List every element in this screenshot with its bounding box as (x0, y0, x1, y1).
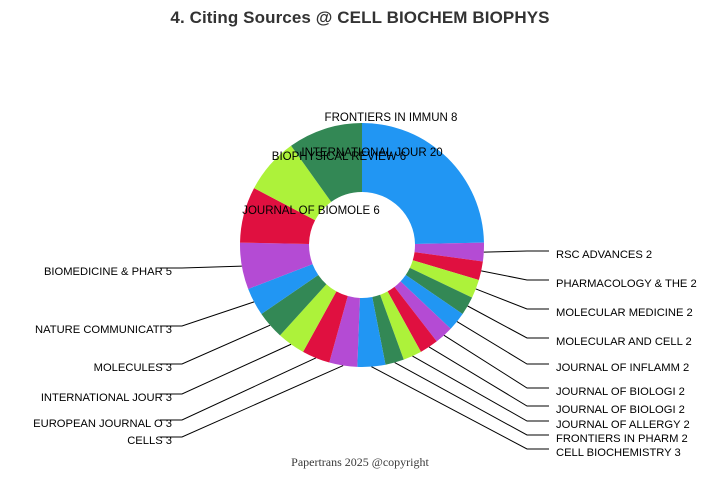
slice-label-outside: JOURNAL OF ALLERGY 2 (556, 419, 690, 431)
slice-label-outside: CELLS 3 (127, 435, 172, 447)
slice-label-outside: BIOMEDICINE & PHAR 5 (44, 266, 172, 278)
leader-line (457, 322, 549, 364)
slice-label-inside: BIOPHYSICAL REVIEW 6 (272, 151, 406, 163)
slice-label-outside: FRONTIERS IN PHARM 2 (556, 433, 688, 445)
donut-slice[interactable] (362, 123, 484, 244)
slice-label-outside: RSC ADVANCES 2 (556, 249, 652, 261)
slice-label-outside: MOLECULAR AND CELL 2 (556, 336, 692, 348)
slice-label-outside: JOURNAL OF BIOLOGI 2 (556, 404, 685, 416)
chart-root: 4. Citing Sources @ CELL BIOCHEM BIOPHYS… (0, 0, 720, 480)
slice-label-outside: PHARMACOLOGY & THE 2 (556, 278, 697, 290)
slice-label-outside: MOLECULES 3 (94, 362, 172, 374)
slice-label-outside: EUROPEAN JOURNAL O 3 (33, 418, 172, 430)
donut-chart[interactable]: INTERNATIONAL JOUR 20RSC ADVANCES 2PHARM… (0, 0, 720, 480)
slice-label-outside: MOLECULAR MEDICINE 2 (556, 307, 693, 319)
leader-line (468, 306, 549, 338)
slice-label-outside: JOURNAL OF BIOLOGI 2 (556, 386, 685, 398)
slice-label-outside: JOURNAL OF INFLAMM 2 (556, 362, 689, 374)
leader-line (429, 347, 549, 406)
slice-label-inside: JOURNAL OF BIOMOLE 6 (242, 205, 380, 217)
copyright-footer: Papertrans 2025 @copyright (0, 455, 720, 470)
leader-line (371, 367, 549, 449)
leader-line (476, 289, 549, 309)
slice-label-outside: NATURE COMMUNICATI 3 (35, 324, 172, 336)
slice-label-outside: INTERNATIONAL JOUR 3 (41, 392, 172, 404)
leader-line (160, 325, 270, 364)
slice-label-inside: FRONTIERS IN IMMUN 8 (325, 112, 458, 124)
leader-line (160, 344, 291, 394)
leader-line (160, 266, 242, 268)
leader-line (444, 335, 549, 388)
leader-line (395, 363, 549, 435)
leader-line (160, 358, 316, 420)
leader-line (160, 302, 254, 326)
leader-line (160, 366, 343, 437)
leader-line (412, 356, 549, 421)
leader-line (481, 271, 549, 280)
leader-line (484, 251, 549, 252)
